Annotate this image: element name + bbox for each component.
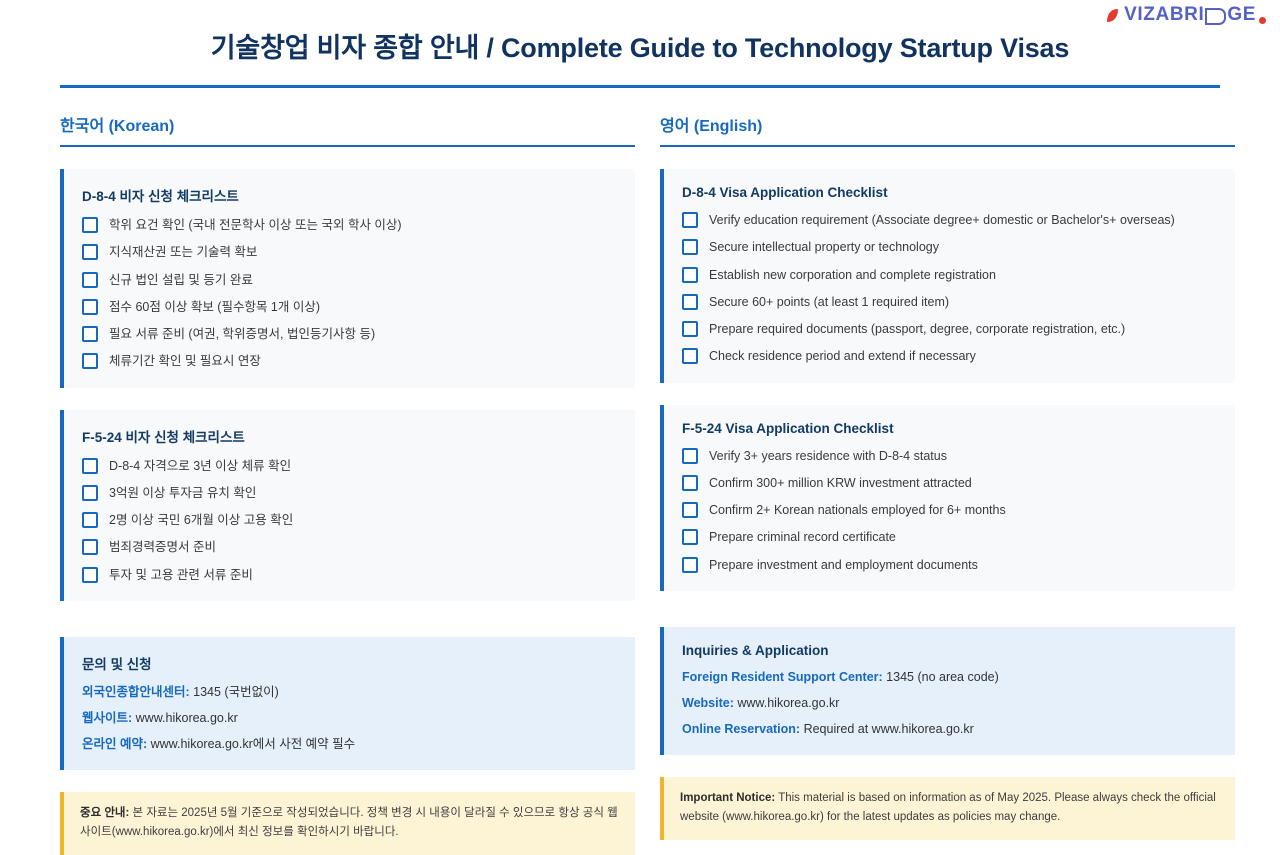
leaf-mark-icon — [1106, 8, 1119, 23]
checklist-item-label: Prepare required documents (passport, de… — [709, 321, 1125, 337]
inquiries-title: 문의 및 신청 — [82, 653, 617, 673]
inquiries-row: 외국인종합안내센터: 1345 (국번없이) — [82, 684, 617, 701]
brand-name: VIZABRI GE — [1124, 4, 1266, 26]
brand-name-tail: GE — [1227, 4, 1256, 26]
checklist-item[interactable]: 체류기간 확인 및 필요시 연장 — [82, 353, 617, 369]
checkbox-icon[interactable] — [682, 321, 698, 337]
checklist-item-label: 2명 이상 국민 6개월 이상 고용 확인 — [109, 512, 293, 528]
language-heading-english: 영어 (English) — [660, 112, 1235, 145]
inquiries-label: Online Reservation: — [682, 722, 800, 736]
inquiries-row: 웹사이트: www.hikorea.go.kr — [82, 710, 617, 727]
checklist-item[interactable]: 지식재산권 또는 기술력 확보 — [82, 244, 617, 260]
checklist-item-label: 투자 및 고용 관련 서류 준비 — [109, 567, 253, 583]
checkbox-icon[interactable] — [82, 272, 98, 288]
checklist-item-label: 신규 법인 설립 및 등기 완료 — [109, 272, 253, 288]
checklist-item[interactable]: Prepare criminal record certificate — [682, 529, 1217, 545]
checkbox-icon[interactable] — [682, 212, 698, 228]
checkbox-icon[interactable] — [682, 448, 698, 464]
checkbox-icon[interactable] — [82, 485, 98, 501]
checklist-item[interactable]: 3억원 이상 투자금 유치 확인 — [82, 485, 617, 501]
inquiries-label: 온라인 예약: — [82, 737, 147, 751]
checklist-title: D-8-4 비자 신청 체크리스트 — [82, 185, 617, 205]
checklist-item-label: Verify education requirement (Associate … — [709, 212, 1175, 228]
checklist-card-f524-ko: F-5-24 비자 신청 체크리스트 D-8-4 자격으로 3년 이상 체류 확… — [60, 410, 635, 601]
checklist-title: F-5-24 비자 신청 체크리스트 — [82, 426, 617, 446]
checkbox-icon[interactable] — [82, 512, 98, 528]
inquiries-row: Website: www.hikorea.go.kr — [682, 695, 1217, 712]
checklist-item[interactable]: 학위 요건 확인 (국내 전문학사 이상 또는 국외 학사 이상) — [82, 217, 617, 233]
checklist-item-label: 점수 60점 이상 확보 (필수항목 1개 이상) — [109, 299, 320, 315]
checklist-item-label: Verify 3+ years residence with D-8-4 sta… — [709, 448, 947, 464]
language-divider-english — [660, 145, 1235, 147]
checklist-item-label: Secure 60+ points (at least 1 required i… — [709, 294, 949, 310]
checklist-item-label: Prepare investment and employment docume… — [709, 557, 978, 573]
checklist-item[interactable]: Check residence period and extend if nec… — [682, 348, 1217, 364]
checklist-item[interactable]: 점수 60점 이상 확보 (필수항목 1개 이상) — [82, 299, 617, 315]
language-divider-korean — [60, 145, 635, 147]
checklist-item-label: Check residence period and extend if nec… — [709, 348, 976, 364]
notice-text: 본 자료는 2025년 5월 기준으로 작성되었습니다. 정책 변경 시 내용이… — [80, 807, 618, 838]
checkbox-icon[interactable] — [682, 294, 698, 310]
checkbox-icon[interactable] — [82, 299, 98, 315]
important-notice-ko: 중요 안내: 본 자료는 2025년 5월 기준으로 작성되었습니다. 정책 변… — [60, 792, 635, 854]
inquiries-value: www.hikorea.go.kr — [734, 696, 840, 710]
checklist-item[interactable]: Verify education requirement (Associate … — [682, 212, 1217, 228]
checklist-item[interactable]: 범죄경력증명서 준비 — [82, 539, 617, 555]
inquiries-value: 1345 (no area code) — [883, 670, 999, 684]
checklist-item-label: Secure intellectual property or technolo… — [709, 239, 939, 255]
checklist-item[interactable]: Prepare investment and employment docume… — [682, 557, 1217, 573]
inquiries-title: Inquiries & Application — [682, 643, 1217, 658]
page-title: 기술창업 비자 종합 안내 / Complete Guide to Techno… — [0, 0, 1280, 65]
brand-dot-icon — [1259, 17, 1266, 24]
checklist-card-d84-en: D-8-4 Visa Application Checklist Verify … — [660, 169, 1235, 383]
checklist-item-label: Prepare criminal record certificate — [709, 529, 896, 545]
column-english: 영어 (English) D-8-4 Visa Application Chec… — [660, 112, 1235, 840]
inquiries-card-ko: 문의 및 신청 외국인종합안내센터: 1345 (국번없이) 웹사이트: www… — [60, 637, 635, 771]
inquiries-label: Foreign Resident Support Center: — [682, 670, 883, 684]
checklist-item[interactable]: 신규 법인 설립 및 등기 완료 — [82, 272, 617, 288]
inquiries-value: 1345 (국번없이) — [190, 685, 279, 699]
checklist-item-label: 학위 요건 확인 (국내 전문학사 이상 또는 국외 학사 이상) — [109, 217, 402, 233]
inquiries-label: 웹사이트: — [82, 711, 132, 725]
checklist-item-label: D-8-4 자격으로 3년 이상 체류 확인 — [109, 458, 291, 474]
checkbox-icon[interactable] — [82, 326, 98, 342]
checkbox-icon[interactable] — [82, 217, 98, 233]
checklist-item-label: 필요 서류 준비 (여권, 학위증명서, 법인등기사항 등) — [109, 326, 375, 342]
checklist-card-d84-ko: D-8-4 비자 신청 체크리스트 학위 요건 확인 (국내 전문학사 이상 또… — [60, 169, 635, 388]
inquiries-value: www.hikorea.go.kr에서 사전 예약 필수 — [147, 737, 355, 751]
checklist-item[interactable]: Secure 60+ points (at least 1 required i… — [682, 294, 1217, 310]
checklist-item[interactable]: Secure intellectual property or technolo… — [682, 239, 1217, 255]
brand-logo: VIZABRI GE — [1106, 4, 1266, 26]
checklist-card-f524-en: F-5-24 Visa Application Checklist Verify… — [660, 405, 1235, 591]
checklist-item-label: 체류기간 확인 및 필요시 연장 — [109, 353, 261, 369]
checklist-item-label: 범죄경력증명서 준비 — [109, 539, 216, 555]
checklist-item-label: 지식재산권 또는 기술력 확보 — [109, 244, 257, 260]
checklist-title: D-8-4 Visa Application Checklist — [682, 185, 1217, 200]
bridge-d-icon — [1205, 8, 1226, 25]
notice-label: 중요 안내: — [80, 807, 129, 819]
checklist-item[interactable]: Confirm 300+ million KRW investment attr… — [682, 475, 1217, 491]
checklist-item[interactable]: Prepare required documents (passport, de… — [682, 321, 1217, 337]
checklist-item-label: Establish new corporation and complete r… — [709, 267, 996, 283]
checkbox-icon[interactable] — [682, 475, 698, 491]
inquiries-row: Online Reservation: Required at www.hiko… — [682, 721, 1217, 738]
important-notice-en: Important Notice: This material is based… — [660, 777, 1235, 839]
checklist-item[interactable]: 2명 이상 국민 6개월 이상 고용 확인 — [82, 512, 617, 528]
checklist-item[interactable]: Establish new corporation and complete r… — [682, 267, 1217, 283]
inquiries-value: www.hikorea.go.kr — [132, 711, 238, 725]
checklist-item[interactable]: 필요 서류 준비 (여권, 학위증명서, 법인등기사항 등) — [82, 326, 617, 342]
checkbox-icon[interactable] — [82, 353, 98, 369]
checkbox-icon[interactable] — [82, 539, 98, 555]
inquiries-row: Foreign Resident Support Center: 1345 (n… — [682, 669, 1217, 686]
checklist-title: F-5-24 Visa Application Checklist — [682, 421, 1217, 436]
checklist-item-label: Confirm 300+ million KRW investment attr… — [709, 475, 972, 491]
checklist-item-label: 3억원 이상 투자금 유치 확인 — [109, 485, 256, 501]
notice-label: Important Notice: — [680, 792, 775, 804]
checkbox-icon[interactable] — [682, 348, 698, 364]
checkbox-icon[interactable] — [682, 502, 698, 518]
checkbox-icon[interactable] — [682, 529, 698, 545]
checklist-item-label: Confirm 2+ Korean nationals employed for… — [709, 502, 1006, 518]
brand-name-head: VIZABRI — [1124, 4, 1204, 26]
checklist-item[interactable]: D-8-4 자격으로 3년 이상 체류 확인 — [82, 458, 617, 474]
checkbox-icon[interactable] — [682, 239, 698, 255]
inquiries-card-en: Inquiries & Application Foreign Resident… — [660, 627, 1235, 756]
checkbox-icon[interactable] — [82, 458, 98, 474]
checkbox-icon[interactable] — [82, 244, 98, 260]
checkbox-icon[interactable] — [682, 267, 698, 283]
inquiries-value: Required at www.hikorea.go.kr — [800, 722, 974, 736]
inquiries-label: 외국인종합안내센터: — [82, 685, 190, 699]
checkbox-icon[interactable] — [82, 567, 98, 583]
checklist-item[interactable]: 투자 및 고용 관련 서류 준비 — [82, 567, 617, 583]
column-korean: 한국어 (Korean) D-8-4 비자 신청 체크리스트 학위 요건 확인 … — [60, 112, 635, 855]
checkbox-icon[interactable] — [682, 557, 698, 573]
header-divider — [60, 85, 1220, 88]
content-columns: 한국어 (Korean) D-8-4 비자 신청 체크리스트 학위 요건 확인 … — [0, 112, 1280, 855]
language-heading-korean: 한국어 (Korean) — [60, 112, 635, 145]
inquiries-row: 온라인 예약: www.hikorea.go.kr에서 사전 예약 필수 — [82, 736, 617, 753]
checklist-item[interactable]: Verify 3+ years residence with D-8-4 sta… — [682, 448, 1217, 464]
inquiries-label: Website: — [682, 696, 734, 710]
checklist-item[interactable]: Confirm 2+ Korean nationals employed for… — [682, 502, 1217, 518]
